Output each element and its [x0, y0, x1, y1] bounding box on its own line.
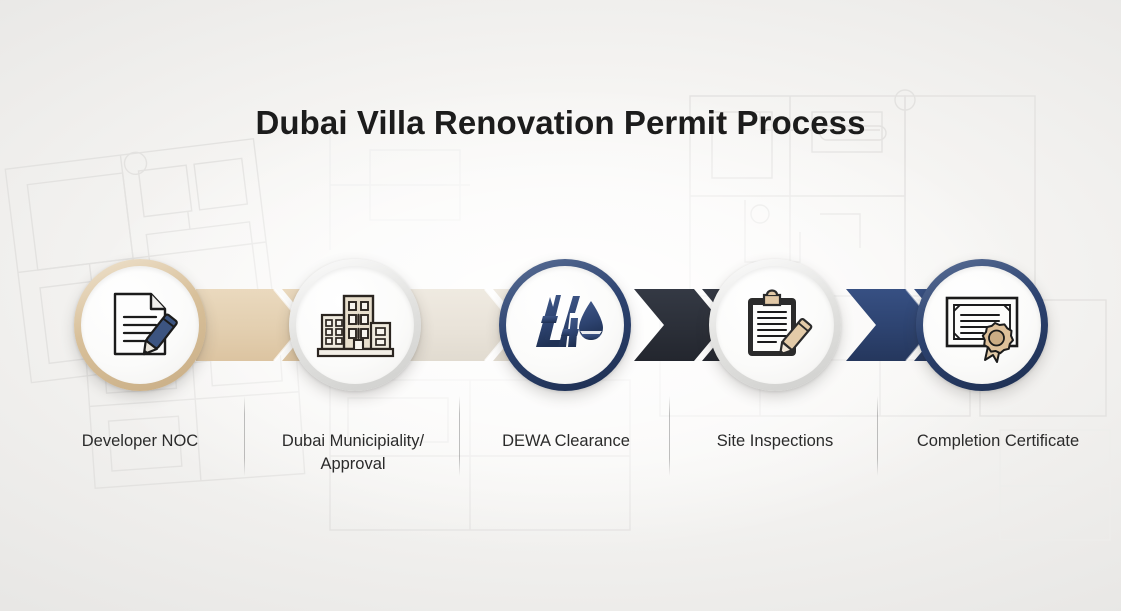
label-divider-4 — [877, 396, 878, 476]
step-5-label: Completion Certificate — [884, 430, 1112, 453]
step-4-label: Site Inspections — [676, 430, 874, 453]
label-divider-3 — [669, 396, 670, 476]
step-1-label: Developer NOC — [35, 430, 245, 453]
document-pencil-icon — [99, 284, 181, 366]
step-5-completion-certificate[interactable] — [916, 259, 1048, 391]
certificate-seal-icon — [939, 286, 1025, 364]
step-3-icon-container — [506, 266, 624, 384]
step-3-label: DEWA Clearance — [466, 430, 666, 453]
step-1-developer-noc[interactable] — [74, 259, 206, 391]
office-building-icon — [313, 283, 397, 367]
step-4-icon-container — [716, 266, 834, 384]
step-2-dubai-municipality-approval[interactable] — [289, 259, 421, 391]
clipboard-pencil-icon — [734, 284, 816, 366]
step-4-site-inspections[interactable] — [709, 259, 841, 391]
step-1-icon-container — [81, 266, 199, 384]
electricity-water-drop-icon — [523, 285, 607, 365]
step-3-dewa-clearance[interactable] — [499, 259, 631, 391]
step-2-icon-container — [296, 266, 414, 384]
step-5-icon-container — [923, 266, 1041, 384]
label-divider-2 — [459, 396, 460, 476]
page-title: Dubai Villa Renovation Permit Process — [0, 104, 1121, 142]
infographic-canvas: Dubai Villa Renovation Permit Process — [0, 0, 1121, 611]
step-2-label: Dubai Municipiality/ Approval — [252, 430, 454, 477]
